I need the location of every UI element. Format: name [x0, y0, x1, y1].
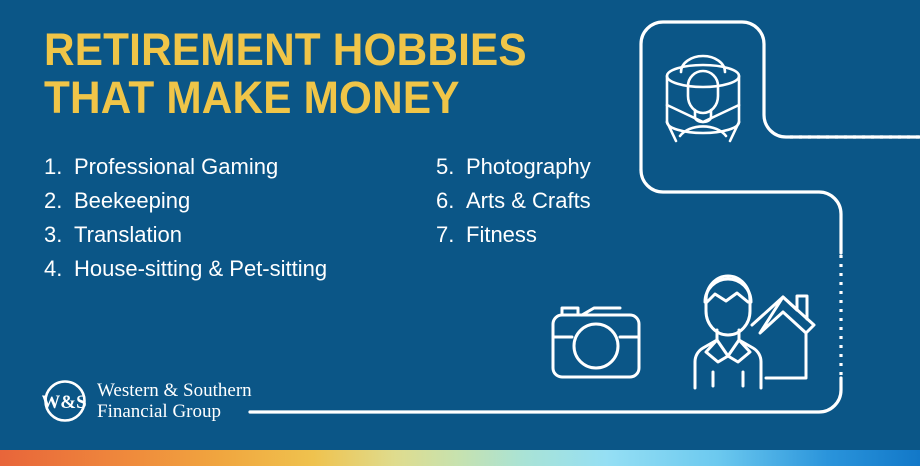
- list-item-number: 2.: [44, 184, 74, 218]
- list-item-label: Translation: [74, 218, 182, 252]
- list-item: 7. Fitness: [436, 218, 656, 252]
- beekeeper-icon: [667, 56, 739, 141]
- list-item-label: Photography: [466, 150, 591, 184]
- beekeeper-frame-path: [641, 22, 920, 170]
- list-item: 6. Arts & Crafts: [436, 184, 656, 218]
- western-southern-circle-icon: W&S: [42, 378, 88, 424]
- title-line-1: RETIREMENT HOBBIES: [44, 26, 608, 74]
- hobbies-list-right-column: 5. Photography 6. Arts & Crafts 7. Fitne…: [436, 150, 656, 252]
- list-item-number: 1.: [44, 150, 74, 184]
- list-item: 4. House-sitting & Pet-sitting: [44, 252, 424, 286]
- brand-wordmark: Western & Southern Financial Group: [97, 380, 252, 422]
- list-item-number: 4.: [44, 252, 74, 286]
- list-item-number: 6.: [436, 184, 466, 218]
- bottom-gradient-bar: [0, 450, 920, 466]
- page-title: RETIREMENT HOBBIES THAT MAKE MONEY: [44, 26, 644, 122]
- list-item-number: 7.: [436, 218, 466, 252]
- brand-wordmark-line-2: Financial Group: [97, 401, 252, 422]
- house-sitter-icon: [695, 276, 814, 388]
- brand-logo: W&S Western & Southern Financial Group: [42, 378, 252, 424]
- svg-text:W&S: W&S: [42, 392, 87, 413]
- brand-wordmark-line-1: Western & Southern: [97, 380, 252, 401]
- list-item-number: 5.: [436, 150, 466, 184]
- list-item-label: Beekeeping: [74, 184, 190, 218]
- list-item-label: Arts & Crafts: [466, 184, 591, 218]
- hobbies-list-left-column: 1. Professional Gaming 2. Beekeeping 3. …: [44, 150, 424, 286]
- camera-icon: [553, 308, 639, 377]
- list-item-label: House-sitting & Pet-sitting: [74, 252, 327, 286]
- connector-upper-path: [641, 170, 841, 253]
- list-item: 2. Beekeeping: [44, 184, 424, 218]
- list-item: 1. Professional Gaming: [44, 150, 424, 184]
- list-item-number: 3.: [44, 218, 74, 252]
- infographic-canvas: RETIREMENT HOBBIES THAT MAKE MONEY 1. Pr…: [0, 0, 920, 466]
- list-item: 5. Photography: [436, 150, 656, 184]
- title-line-2: THAT MAKE MONEY: [44, 74, 608, 122]
- list-item: 3. Translation: [44, 218, 424, 252]
- connector-lower-path: [250, 378, 841, 412]
- list-item-label: Professional Gaming: [74, 150, 278, 184]
- list-item-label: Fitness: [466, 218, 537, 252]
